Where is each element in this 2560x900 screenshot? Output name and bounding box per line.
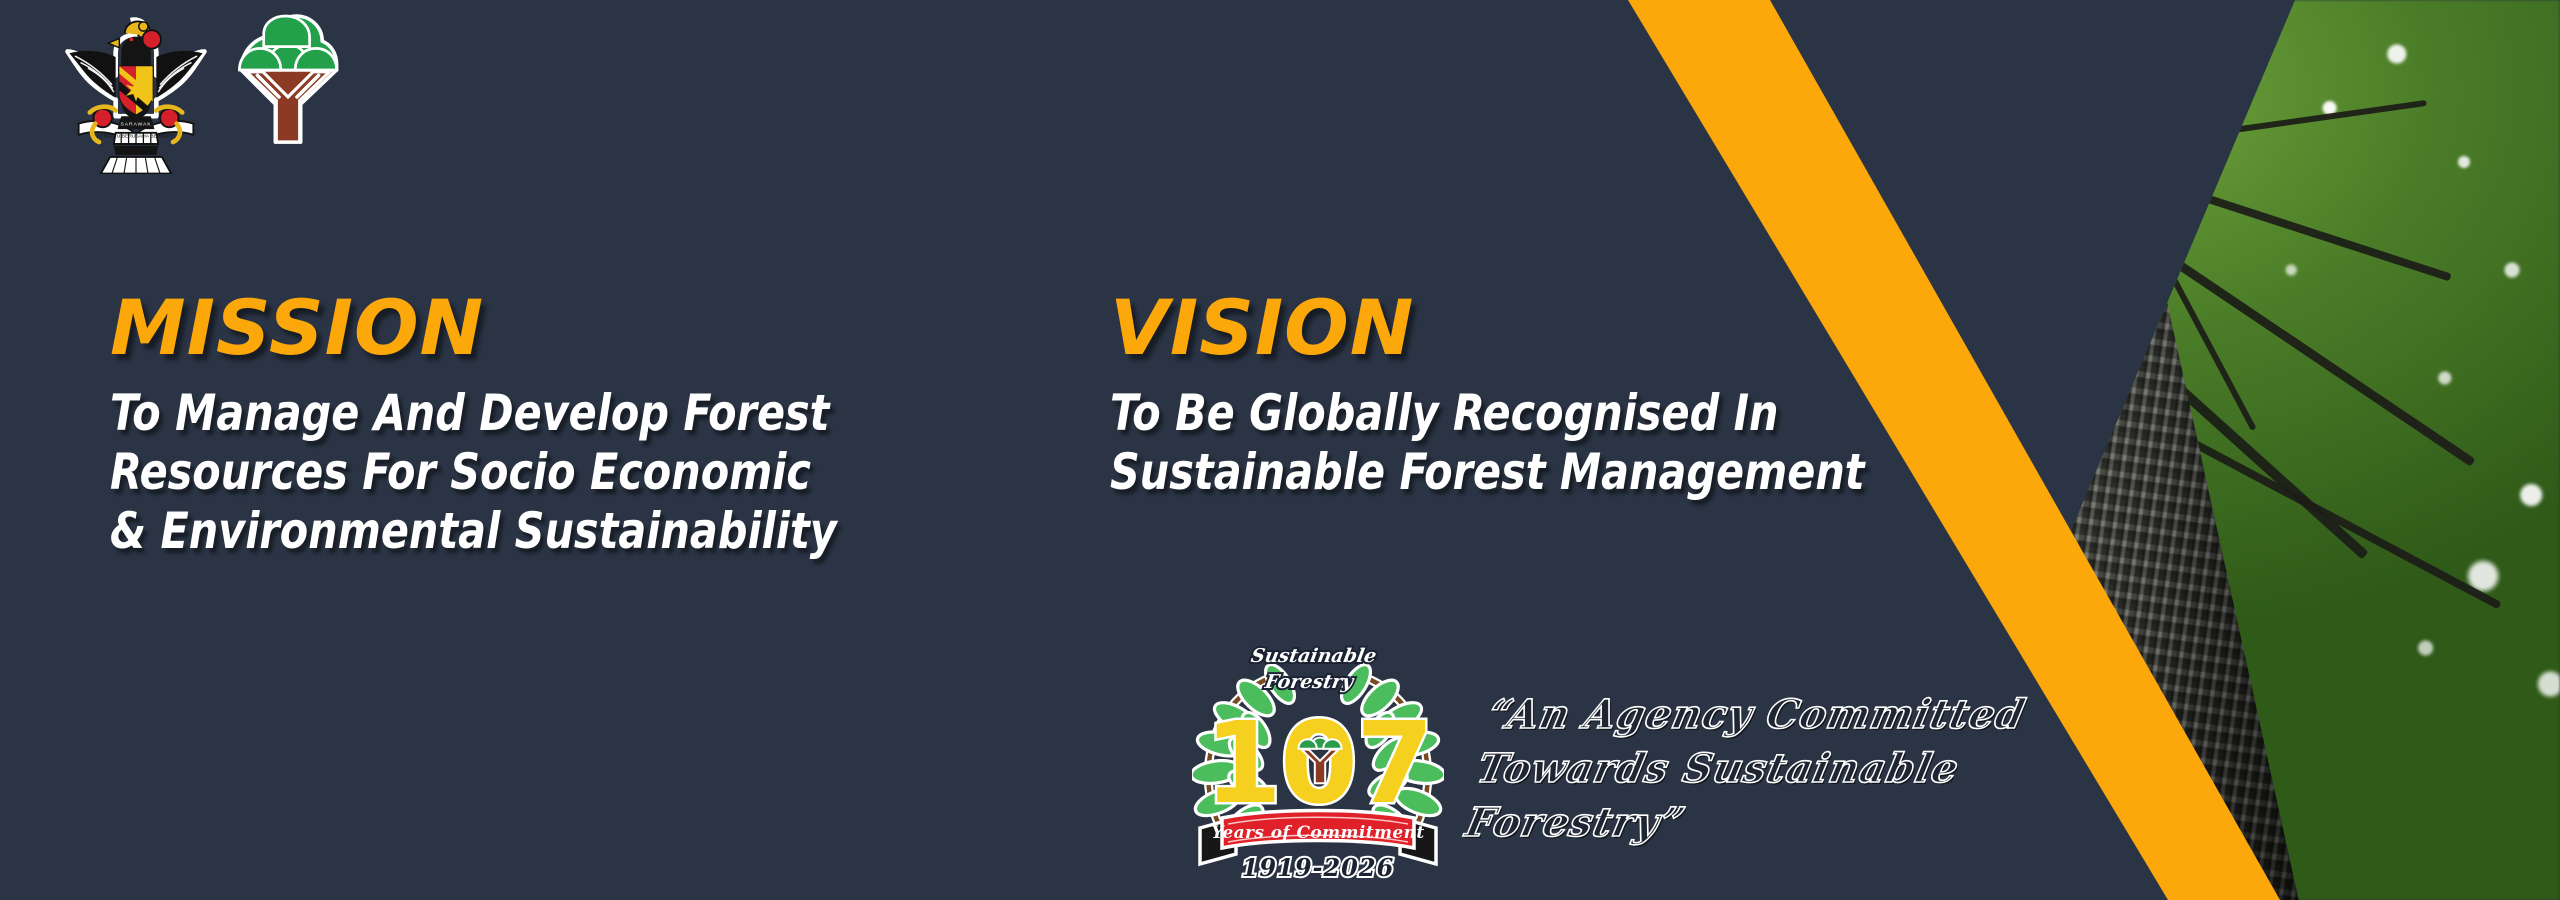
anniv-years: 1919-2026 <box>1242 853 1395 882</box>
logo-row: BERSATU BERUSAHA BERBAKTI SARAWAK <box>62 14 342 174</box>
forest-department-tree-logo-icon <box>234 14 342 144</box>
branch-icon <box>1917 0 2070 125</box>
mission-text: To Manage And Develop Forest Resources F… <box>110 384 837 561</box>
anniv-top-line-2: Forestry <box>1262 670 1357 693</box>
crest-motto: BERSATU BERUSAHA BERBAKTI <box>97 133 175 139</box>
vision-heading: VISION <box>1110 290 1930 366</box>
vision-block: VISION To Be Globally Recognised In Sust… <box>1110 290 1930 502</box>
sarawak-coat-of-arms-icon: BERSATU BERUSAHA BERBAKTI SARAWAK <box>62 14 210 174</box>
mission-block: MISSION To Manage And Develop Forest Res… <box>110 290 900 561</box>
mission-heading: MISSION <box>110 290 900 366</box>
branch-icon <box>2062 0 2252 126</box>
anniv-top-line-1: Sustainable <box>1249 644 1378 667</box>
crest-state-label: SARAWAK <box>120 121 151 127</box>
anniversary-107-logo: Sustainable Forestry 107 Years of Commit… <box>1192 632 1444 884</box>
mission-vision-banner: BERSATU BERUSAHA BERBAKTI SARAWAK MIS <box>0 0 2560 900</box>
agency-tagline: “An Agency Committed Towards Sustainable… <box>1461 688 2095 850</box>
anniv-ribbon-text: Years of Commitment <box>1211 823 1424 843</box>
vision-text: To Be Globally Recognised In Sustainable… <box>1110 384 1865 502</box>
